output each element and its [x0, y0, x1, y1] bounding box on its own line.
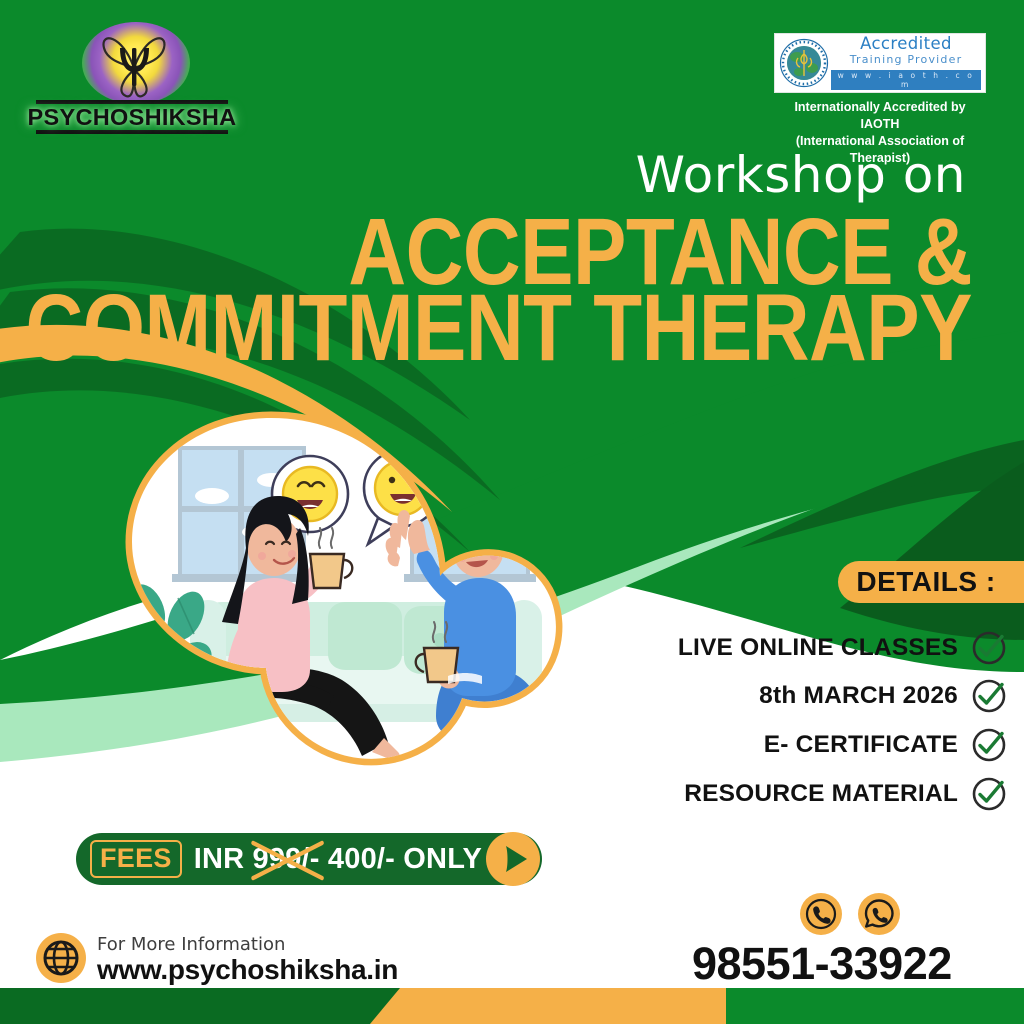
accreditation-url: w w w . i a o t h . c o m — [831, 70, 981, 90]
accreditation-caption-line1: Internationally Accredited by IAOTH — [774, 99, 986, 133]
detail-row-e-certificate: E- CERTIFICATE — [764, 726, 1008, 764]
phone-icon[interactable] — [800, 893, 842, 935]
fees-banner[interactable]: FEES INR 999/- 400/- ONLY — [76, 833, 542, 885]
butterfly-psi-logo-icon — [92, 26, 182, 100]
accreditation-text: Accredited Training Provider w w w . i a… — [829, 36, 981, 89]
globe-icon — [36, 933, 86, 983]
accreditation-badge: Accredited Training Provider w w w . i a… — [774, 33, 986, 133]
fees-currency: INR — [194, 843, 245, 875]
play-arrow-icon[interactable] — [486, 832, 540, 886]
fees-new-price: 400/- — [328, 843, 395, 875]
accreditation-subtitle: Training Provider — [831, 53, 981, 68]
detail-label: LIVE ONLINE CLASSES — [678, 634, 958, 662]
fees-price-text: INR 999/- 400/- ONLY — [194, 843, 482, 876]
phone-number-text[interactable]: 98551-33922 — [692, 938, 952, 990]
brand-logo: PSYCHOSHIKSHA — [32, 22, 232, 134]
logo-wordmark: PSYCHOSHIKSHA — [32, 100, 232, 134]
detail-row-resource-material: RESOURCE MATERIAL — [684, 775, 1008, 813]
fees-old-price: 999/- — [253, 843, 320, 875]
accreditation-title: Accredited — [831, 36, 981, 53]
fees-tag-label: FEES — [90, 840, 182, 878]
poster-root: PSYCHOSHIKSHA — [0, 0, 1024, 1024]
detail-label: 8th MARCH 2026 — [759, 682, 958, 710]
logo-name-text: PSYCHOSHIKSHA — [32, 100, 232, 134]
website-text[interactable]: www.psychoshiksha.in — [97, 954, 398, 986]
detail-label: RESOURCE MATERIAL — [684, 780, 958, 808]
headline-kicker: Workshop on — [636, 146, 966, 204]
details-badge: DETAILS : — [838, 561, 1024, 603]
headline-title-line2: COMMITMENT THERAPY — [25, 281, 972, 375]
whatsapp-icon[interactable] — [858, 893, 900, 935]
detail-row-date: 8th MARCH 2026 — [759, 677, 1008, 715]
detail-label: E- CERTIFICATE — [764, 731, 958, 759]
iaoth-seal-icon — [779, 38, 829, 88]
fees-suffix: ONLY — [403, 843, 482, 875]
more-info-label: For More Information — [97, 934, 285, 955]
details-badge-label: DETAILS : — [856, 566, 995, 598]
accreditation-card: Accredited Training Provider w w w . i a… — [774, 33, 986, 93]
fees-old-price-wrap: 999/- — [253, 843, 320, 876]
check-circle-icon — [970, 629, 1008, 667]
contact-icons — [800, 893, 900, 935]
check-circle-icon — [970, 726, 1008, 764]
two-women-conversation-illustration — [96, 408, 636, 808]
detail-row-live-online-classes: LIVE ONLINE CLASSES — [678, 629, 1008, 667]
check-circle-icon — [970, 775, 1008, 813]
check-circle-icon — [970, 677, 1008, 715]
